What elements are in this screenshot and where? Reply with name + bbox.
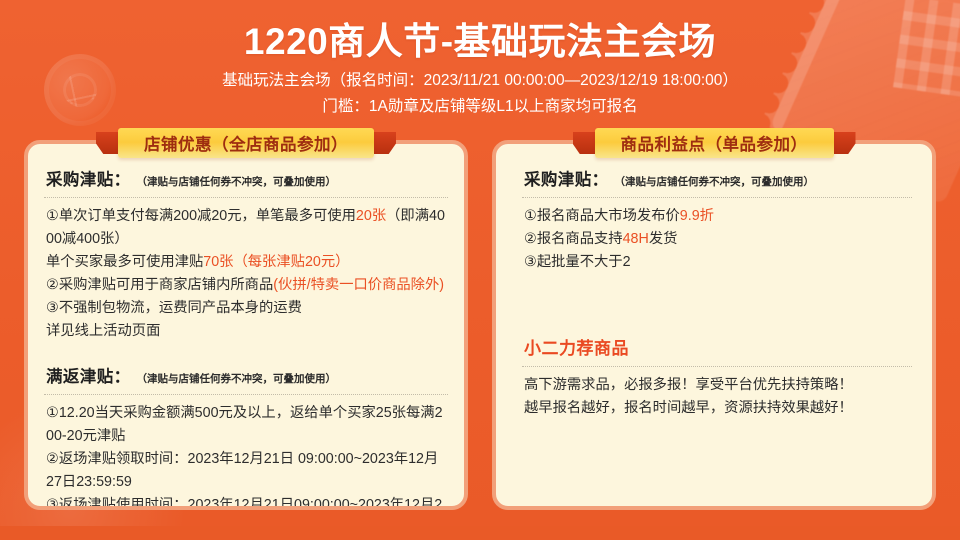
section-header: 满返津贴：（津贴与店铺任何券不冲突，可叠加使用） [42,363,450,387]
section-lines: ①报名商品大市场发布价9.9折②报名商品支持48H发货③起批量不大于2 [520,205,914,274]
bullet-line: ①报名商品大市场发布价9.9折 [524,205,910,228]
product-benefit-card: 采购津贴：（津贴与店铺任何券不冲突，可叠加使用）①报名商品大市场发布价9.9折②… [492,140,936,510]
header-subtitle-threshold: 门槛：1A勋章及店铺等级L1以上商家均可报名 [0,95,960,119]
promo-line: 越早报名越好，报名时间越早，资源扶持效果越好！ [524,397,910,420]
section-gap [42,347,450,363]
promo-banner-page: 1220商人节-基础玩法主会场 基础玩法主会场（报名时间：2023/11/21 … [0,0,960,540]
plain-text: ①单次订单支付每满200减20元，单笔最多可使用 [46,208,356,224]
plain-text: 越早报名越好，报名时间越早，资源扶持效果越好！ [524,400,853,416]
bullet-line: ②报名商品支持48H发货 [524,228,910,251]
store-promotion-ribbon-label: 店铺优惠（全店商品参加） [118,128,374,158]
bullet-line: 单个买家最多可使用津贴70张（每张津贴20元） [46,251,446,274]
bullet-line: ①12.20当天采购金额满500元及以上，返给单个买家25张每满200-20元津… [46,402,446,448]
bullet-line: 详见线上活动页面 [46,320,446,343]
benefit-section: 满返津贴：（津贴与店铺任何券不冲突，可叠加使用）①12.20当天采购金额满500… [42,363,450,506]
highlighted-text: 20张 [356,208,386,224]
promo-lines: 高下游需求品，必报多报！享受平台优先扶持策略！越早报名越好，报名时间越早，资源扶… [520,374,914,420]
plain-text: ②返场津贴领取时间：2023年12月21日 09:00:00~2023年12月2… [46,451,438,490]
bullet-line: ③起批量不大于2 [524,251,910,274]
plain-text: 发货 [649,231,678,247]
plain-text: 高下游需求品，必报多报！享受平台优先扶持策略！ [524,377,853,393]
product-benefit-ribbon: 商品利益点（单品参加） [492,128,936,158]
recommended-products-section: 小二力荐商品高下游需求品，必报多报！享受平台优先扶持策略！越早报名越好，报名时间… [520,334,914,420]
bullet-line: ②采购津贴可用于商家店铺内所商品(伙拼/特卖一口价商品除外) [46,274,446,297]
benefit-section: 采购津贴：（津贴与店铺任何券不冲突，可叠加使用）①单次订单支付每满200减20元… [42,166,450,343]
plain-text: ③返场津贴使用时间：2023年12月21日09:00:00~2023年12月27… [46,497,442,506]
section-divider [44,197,448,198]
promo-gap [520,278,914,334]
section-divider [522,197,912,198]
plain-text: ②采购津贴可用于商家店铺内所商品 [46,277,273,293]
plain-text: ③起批量不大于2 [524,254,631,270]
section-note: （津贴与店铺任何券不冲突，可叠加使用） [137,174,337,189]
section-divider [44,394,448,395]
page-header: 1220商人节-基础玩法主会场 基础玩法主会场（报名时间：2023/11/21 … [0,0,960,126]
plain-text: ①12.20当天采购金额满500元及以上，返给单个买家25张每满200-20元津… [46,405,443,444]
plain-text: ①报名商品大市场发布价 [524,208,680,224]
benefit-section: 采购津贴：（津贴与店铺任何券不冲突，可叠加使用）①报名商品大市场发布价9.9折②… [520,166,914,274]
bullet-line: ③返场津贴使用时间：2023年12月21日09:00:00~2023年12月27… [46,494,446,506]
footer-strip [0,526,960,540]
highlighted-text: 70张（每张津贴20元） [203,254,349,270]
bullet-line: ③不强制包物流，运费同产品本身的运费 [46,297,446,320]
store-promotion-card-body: 采购津贴：（津贴与店铺任何券不冲突，可叠加使用）①单次订单支付每满200减20元… [28,144,464,506]
store-promotion-ribbon: 店铺优惠（全店商品参加） [24,128,468,158]
section-note: （津贴与店铺任何券不冲突，可叠加使用） [137,371,337,386]
plain-text: 单个买家最多可使用津贴 [46,254,203,270]
section-title: 满返津贴： [46,363,131,387]
highlighted-text: (伙拼/特卖一口价商品除外) [273,277,444,293]
product-benefit-ribbon-label: 商品利益点（单品参加） [595,128,834,158]
bullet-line: ②返场津贴领取时间：2023年12月21日 09:00:00~2023年12月2… [46,448,446,494]
section-note: （津贴与店铺任何券不冲突，可叠加使用） [615,174,815,189]
store-promotion-card: 采购津贴：（津贴与店铺任何券不冲突，可叠加使用）①单次订单支付每满200减20元… [24,140,468,510]
plain-text: 详见线上活动页面 [46,323,160,339]
page-title: 1220商人节-基础玩法主会场 [0,0,960,64]
product-benefit-card-body: 采购津贴：（津贴与店铺任何券不冲突，可叠加使用）①报名商品大市场发布价9.9折②… [496,144,932,506]
plain-text: ②报名商品支持 [524,231,623,247]
section-title: 采购津贴： [46,166,131,190]
bullet-line: ①单次订单支付每满200减20元，单笔最多可使用20张（即满4000减400张） [46,205,446,251]
section-title: 采购津贴： [524,166,609,190]
highlighted-text: 9.9折 [680,208,714,224]
plain-text: ③不强制包物流，运费同产品本身的运费 [46,300,302,316]
section-lines: ①单次订单支付每满200减20元，单笔最多可使用20张（即满4000减400张）… [42,205,450,343]
header-subtitle-registration: 基础玩法主会场（报名时间：2023/11/21 00:00:00—2023/12… [0,69,960,93]
section-header: 采购津贴：（津贴与店铺任何券不冲突，可叠加使用） [520,166,914,190]
highlighted-text: 48H [623,231,649,247]
section-lines: ①12.20当天采购金额满500元及以上，返给单个买家25张每满200-20元津… [42,402,450,506]
recommended-products-title: 小二力荐商品 [520,334,914,359]
promo-line: 高下游需求品，必报多报！享受平台优先扶持策略！ [524,374,910,397]
promo-divider [522,366,912,367]
section-header: 采购津贴：（津贴与店铺任何券不冲突，可叠加使用） [42,166,450,190]
